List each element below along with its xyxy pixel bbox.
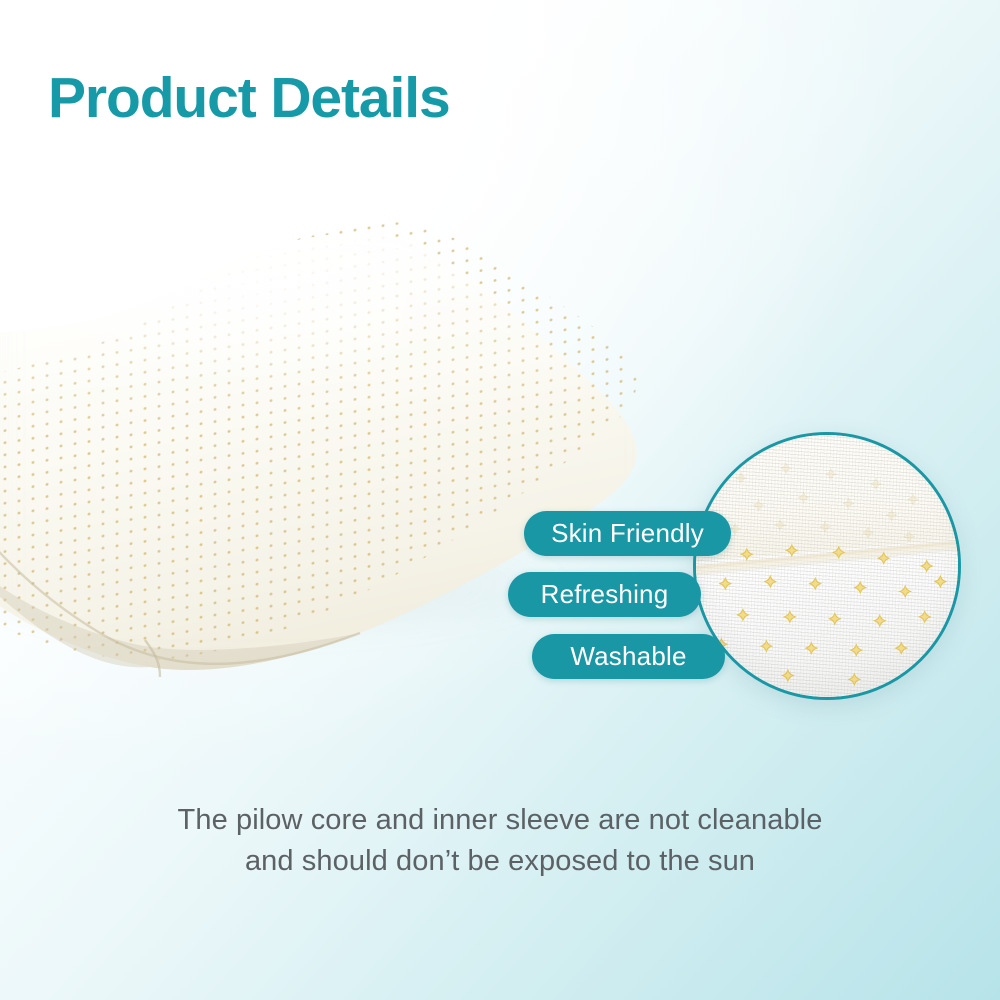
fabric-closeup-circle <box>693 432 961 700</box>
feature-pill-refreshing[interactable]: Refreshing <box>508 572 701 617</box>
product-details-card: Product Details <box>0 0 1000 1000</box>
page-title: Product Details <box>48 66 450 132</box>
caption-line-1: The pilow core and inner sleeve are not … <box>0 800 1000 841</box>
care-instructions-caption: The pilow core and inner sleeve are not … <box>0 800 1000 882</box>
gold-cross-embroidery <box>696 435 958 697</box>
caption-line-2: and should don’t be exposed to the sun <box>0 841 1000 882</box>
pillow-product-image <box>0 185 690 705</box>
feature-pill-skin-friendly[interactable]: Skin Friendly <box>524 511 731 556</box>
feature-pill-washable[interactable]: Washable <box>532 634 725 679</box>
